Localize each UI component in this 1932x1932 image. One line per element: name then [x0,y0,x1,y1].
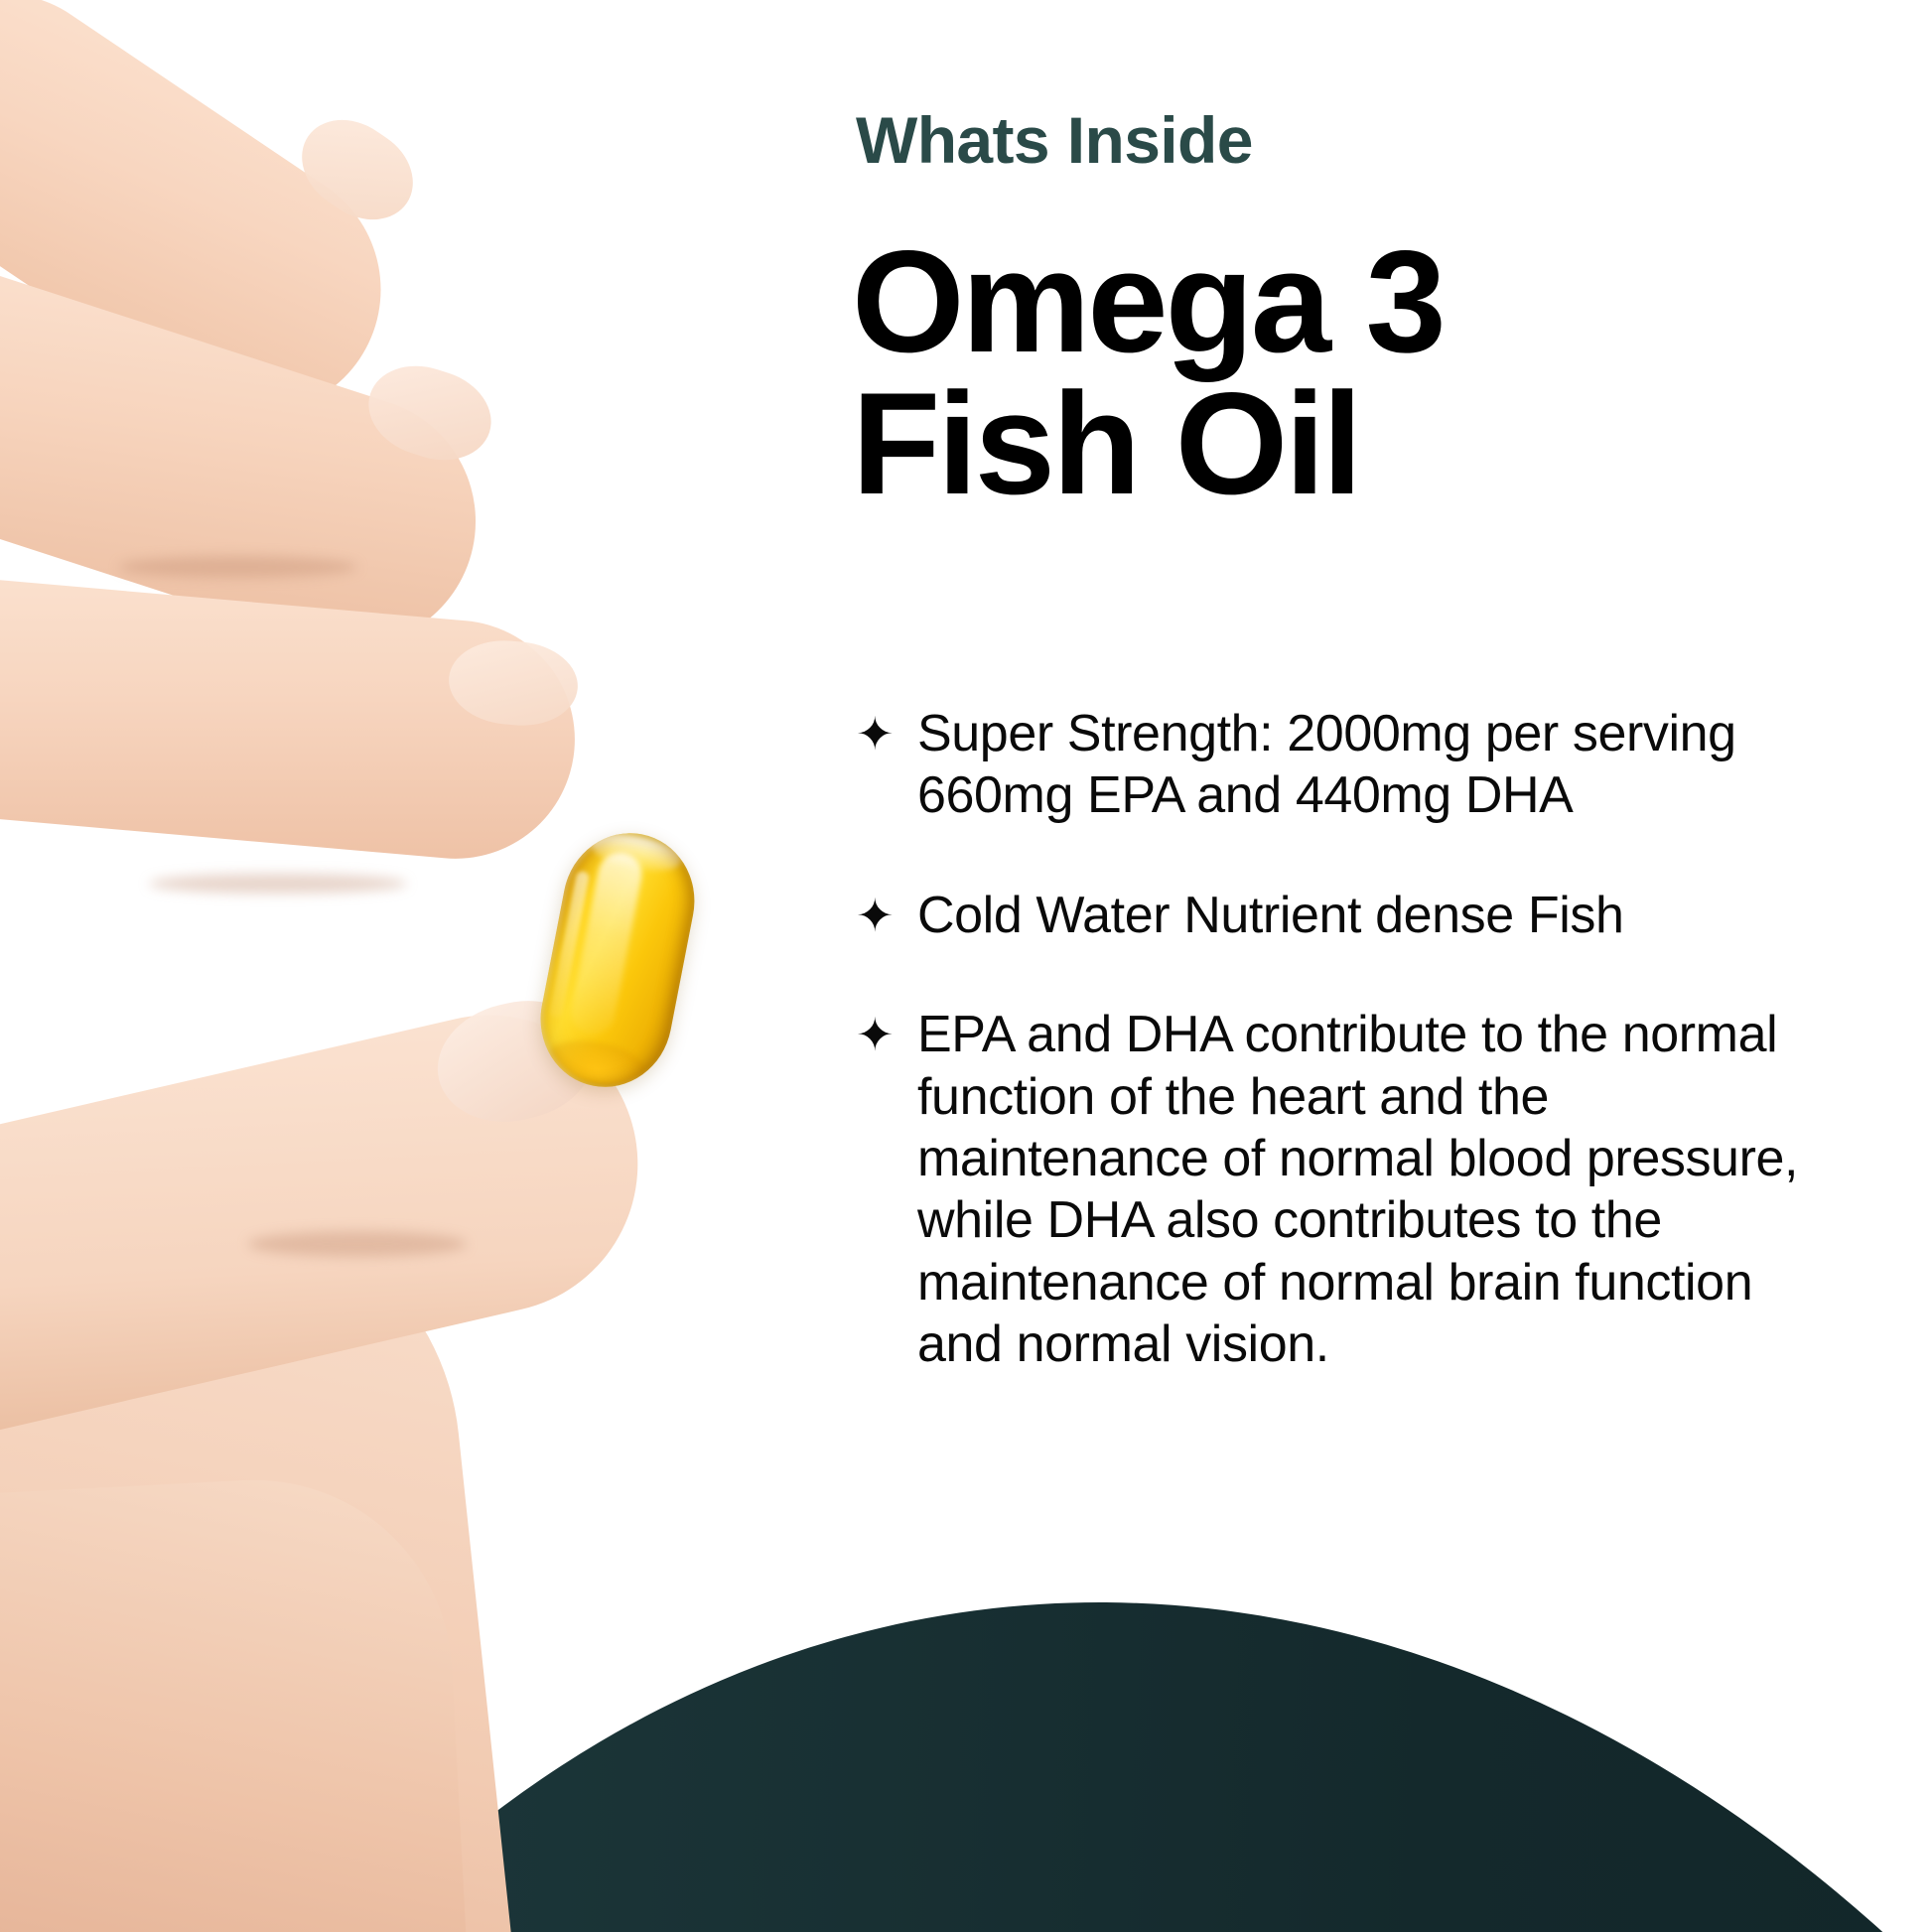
headline-line-2: Fish Oil [852,372,1444,514]
softgel-capsule [529,822,707,1098]
star-icon: ✦ [856,885,917,946]
feature-list: ✦ Super Strength: 2000mg per serving 660… [856,703,1849,1376]
product-infographic: Whats Inside Omega 3 Fish Oil ✦ Super St… [0,0,1932,1932]
headline-line-1: Omega 3 [852,230,1444,372]
list-item-label: Cold Water Nutrient dense Fish [917,885,1849,946]
list-item: ✦ Cold Water Nutrient dense Fish [856,885,1849,946]
eyebrow-label: Whats Inside [856,107,1253,173]
star-icon: ✦ [856,703,917,764]
list-item-label: EPA and DHA contribute to the normal fun… [917,1004,1849,1375]
capsule-rim-shading [529,822,707,1098]
list-item: ✦ Super Strength: 2000mg per serving 660… [856,703,1849,827]
thumb-crease [248,1231,467,1257]
hand-holding-capsule-image [0,0,794,1932]
knuckle-crease [149,874,407,894]
page-title: Omega 3 Fish Oil [852,230,1444,514]
list-item: ✦ EPA and DHA contribute to the normal f… [856,1004,1849,1375]
star-icon: ✦ [856,1004,917,1065]
knuckle-crease [119,556,357,578]
list-item-label: Super Strength: 2000mg per serving 660mg… [917,703,1849,827]
text-column: Whats Inside Omega 3 Fish Oil ✦ Super St… [856,0,1859,1932]
